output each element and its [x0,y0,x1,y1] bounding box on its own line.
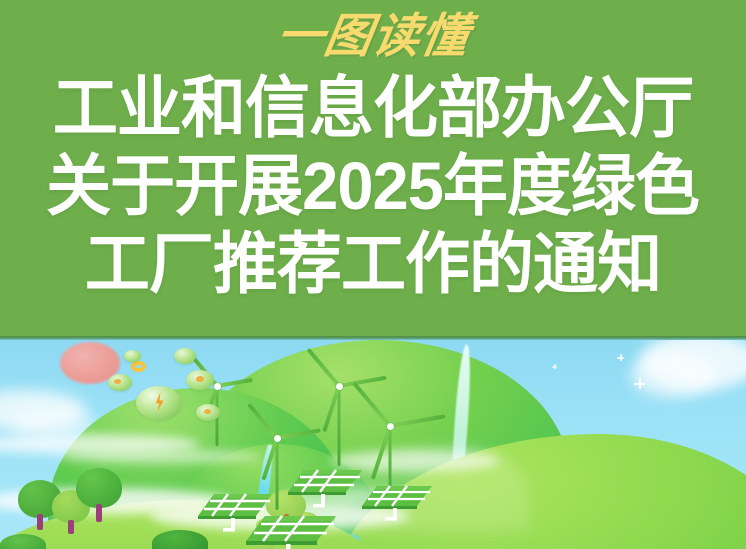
turbine-hub [336,383,343,390]
header-divider [0,336,746,340]
landscape-illustration [0,338,746,549]
turbine-blade [390,414,446,428]
cloud-icon [630,352,716,398]
solar-panel-graphic [288,468,362,510]
tree-trunk [37,514,43,530]
infographic-poster: 一图读懂 工业和信息化部办公厅 关于开展2025年度绿色 工厂推荐工作的通知 [0,0,746,549]
title-line-2: 关于开展2025年度绿色 [47,148,700,226]
solar-panel-icon [288,468,362,510]
leaf-bubble-icon [124,350,141,362]
bubble-accent [114,379,121,384]
title-line-1: 工业和信息化部办公厅 [53,70,693,148]
turbine-blade [277,428,321,440]
turbine-hub [387,423,394,430]
tree-trunk [96,504,102,522]
tree-crown [76,468,122,508]
sparkle-icon [634,378,645,389]
bubble-accent [196,376,204,382]
turbine-hub [214,383,221,390]
solar-panel-graphic [362,484,432,524]
green-energy-icon [90,348,250,428]
kicker-badge: 一图读懂 [0,6,746,64]
bush [0,534,46,549]
bubble-accent [204,409,211,414]
tree-trunk [68,520,74,534]
turbine-hub [274,435,281,442]
sparkle-icon [552,364,557,369]
turbine-blade [247,403,278,439]
page-title: 工业和信息化部办公厅 关于开展2025年度绿色 工厂推荐工作的通知 [0,70,746,304]
sparkle-icon [617,354,624,361]
tree-icon [76,468,122,522]
turbine-blade [352,382,391,427]
solar-panel-icon [362,484,432,524]
header-panel: 一图读懂 工业和信息化部办公厅 关于开展2025年度绿色 工厂推荐工作的通知 [0,0,746,336]
turbine-mast [276,438,279,510]
solar-panel-icon [246,514,336,549]
solar-panel-graphic [246,514,336,549]
leaf-bubble-icon [174,348,196,364]
kicker-text: 一图读懂 [273,12,472,59]
title-line-3: 工厂推荐工作的通知 [85,226,661,304]
